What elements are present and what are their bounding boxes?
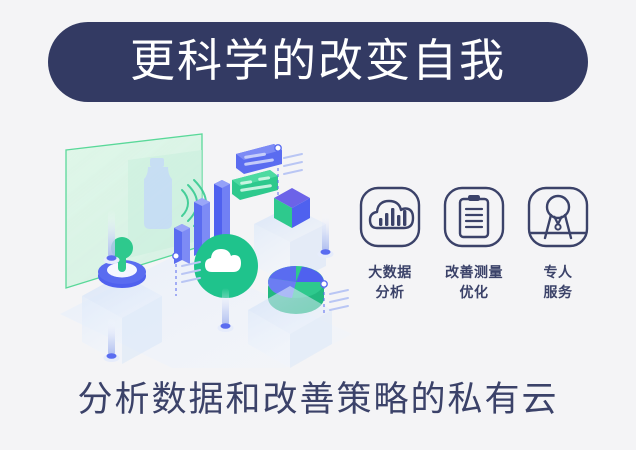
green-label-card bbox=[232, 170, 278, 200]
feature-label-big-data-analysis: 大数据 分析 bbox=[354, 262, 426, 303]
clipboard-icon bbox=[443, 186, 505, 248]
feature-item-dedicated-service[interactable]: 专人 服务 bbox=[522, 186, 594, 303]
feature-label-line2: 分析 bbox=[354, 282, 426, 302]
isometric-data-platform-illustration bbox=[52, 128, 352, 368]
feature-label-dedicated-service: 专人 服务 bbox=[522, 262, 594, 303]
feature-label-line1: 大数据 bbox=[354, 262, 426, 282]
feature-item-measurement-optimization[interactable]: 改善测量 优化 bbox=[438, 186, 510, 303]
cloud-bar-chart-icon bbox=[359, 186, 421, 248]
feature-label-line2: 优化 bbox=[438, 282, 510, 302]
tagline: 分析数据和改善策略的私有云 bbox=[0, 382, 636, 417]
feature-label-line1: 专人 bbox=[522, 262, 594, 282]
bottle-graphic bbox=[144, 158, 172, 229]
page-title: 更科学的改变自我 bbox=[130, 38, 506, 86]
title-banner: 更科学的改变自我 bbox=[48, 22, 588, 102]
feature-list: 大数据 分析 改善测量 bbox=[354, 186, 594, 336]
feature-label-measurement-optimization: 改善测量 优化 bbox=[438, 262, 510, 303]
poster-canvas: 更科学的改变自我 bbox=[0, 0, 636, 450]
feature-label-line2: 服务 bbox=[522, 282, 594, 302]
feature-label-line1: 改善测量 bbox=[438, 262, 510, 282]
feature-item-big-data-analysis[interactable]: 大数据 分析 bbox=[354, 186, 426, 303]
service-person-icon bbox=[527, 186, 589, 248]
